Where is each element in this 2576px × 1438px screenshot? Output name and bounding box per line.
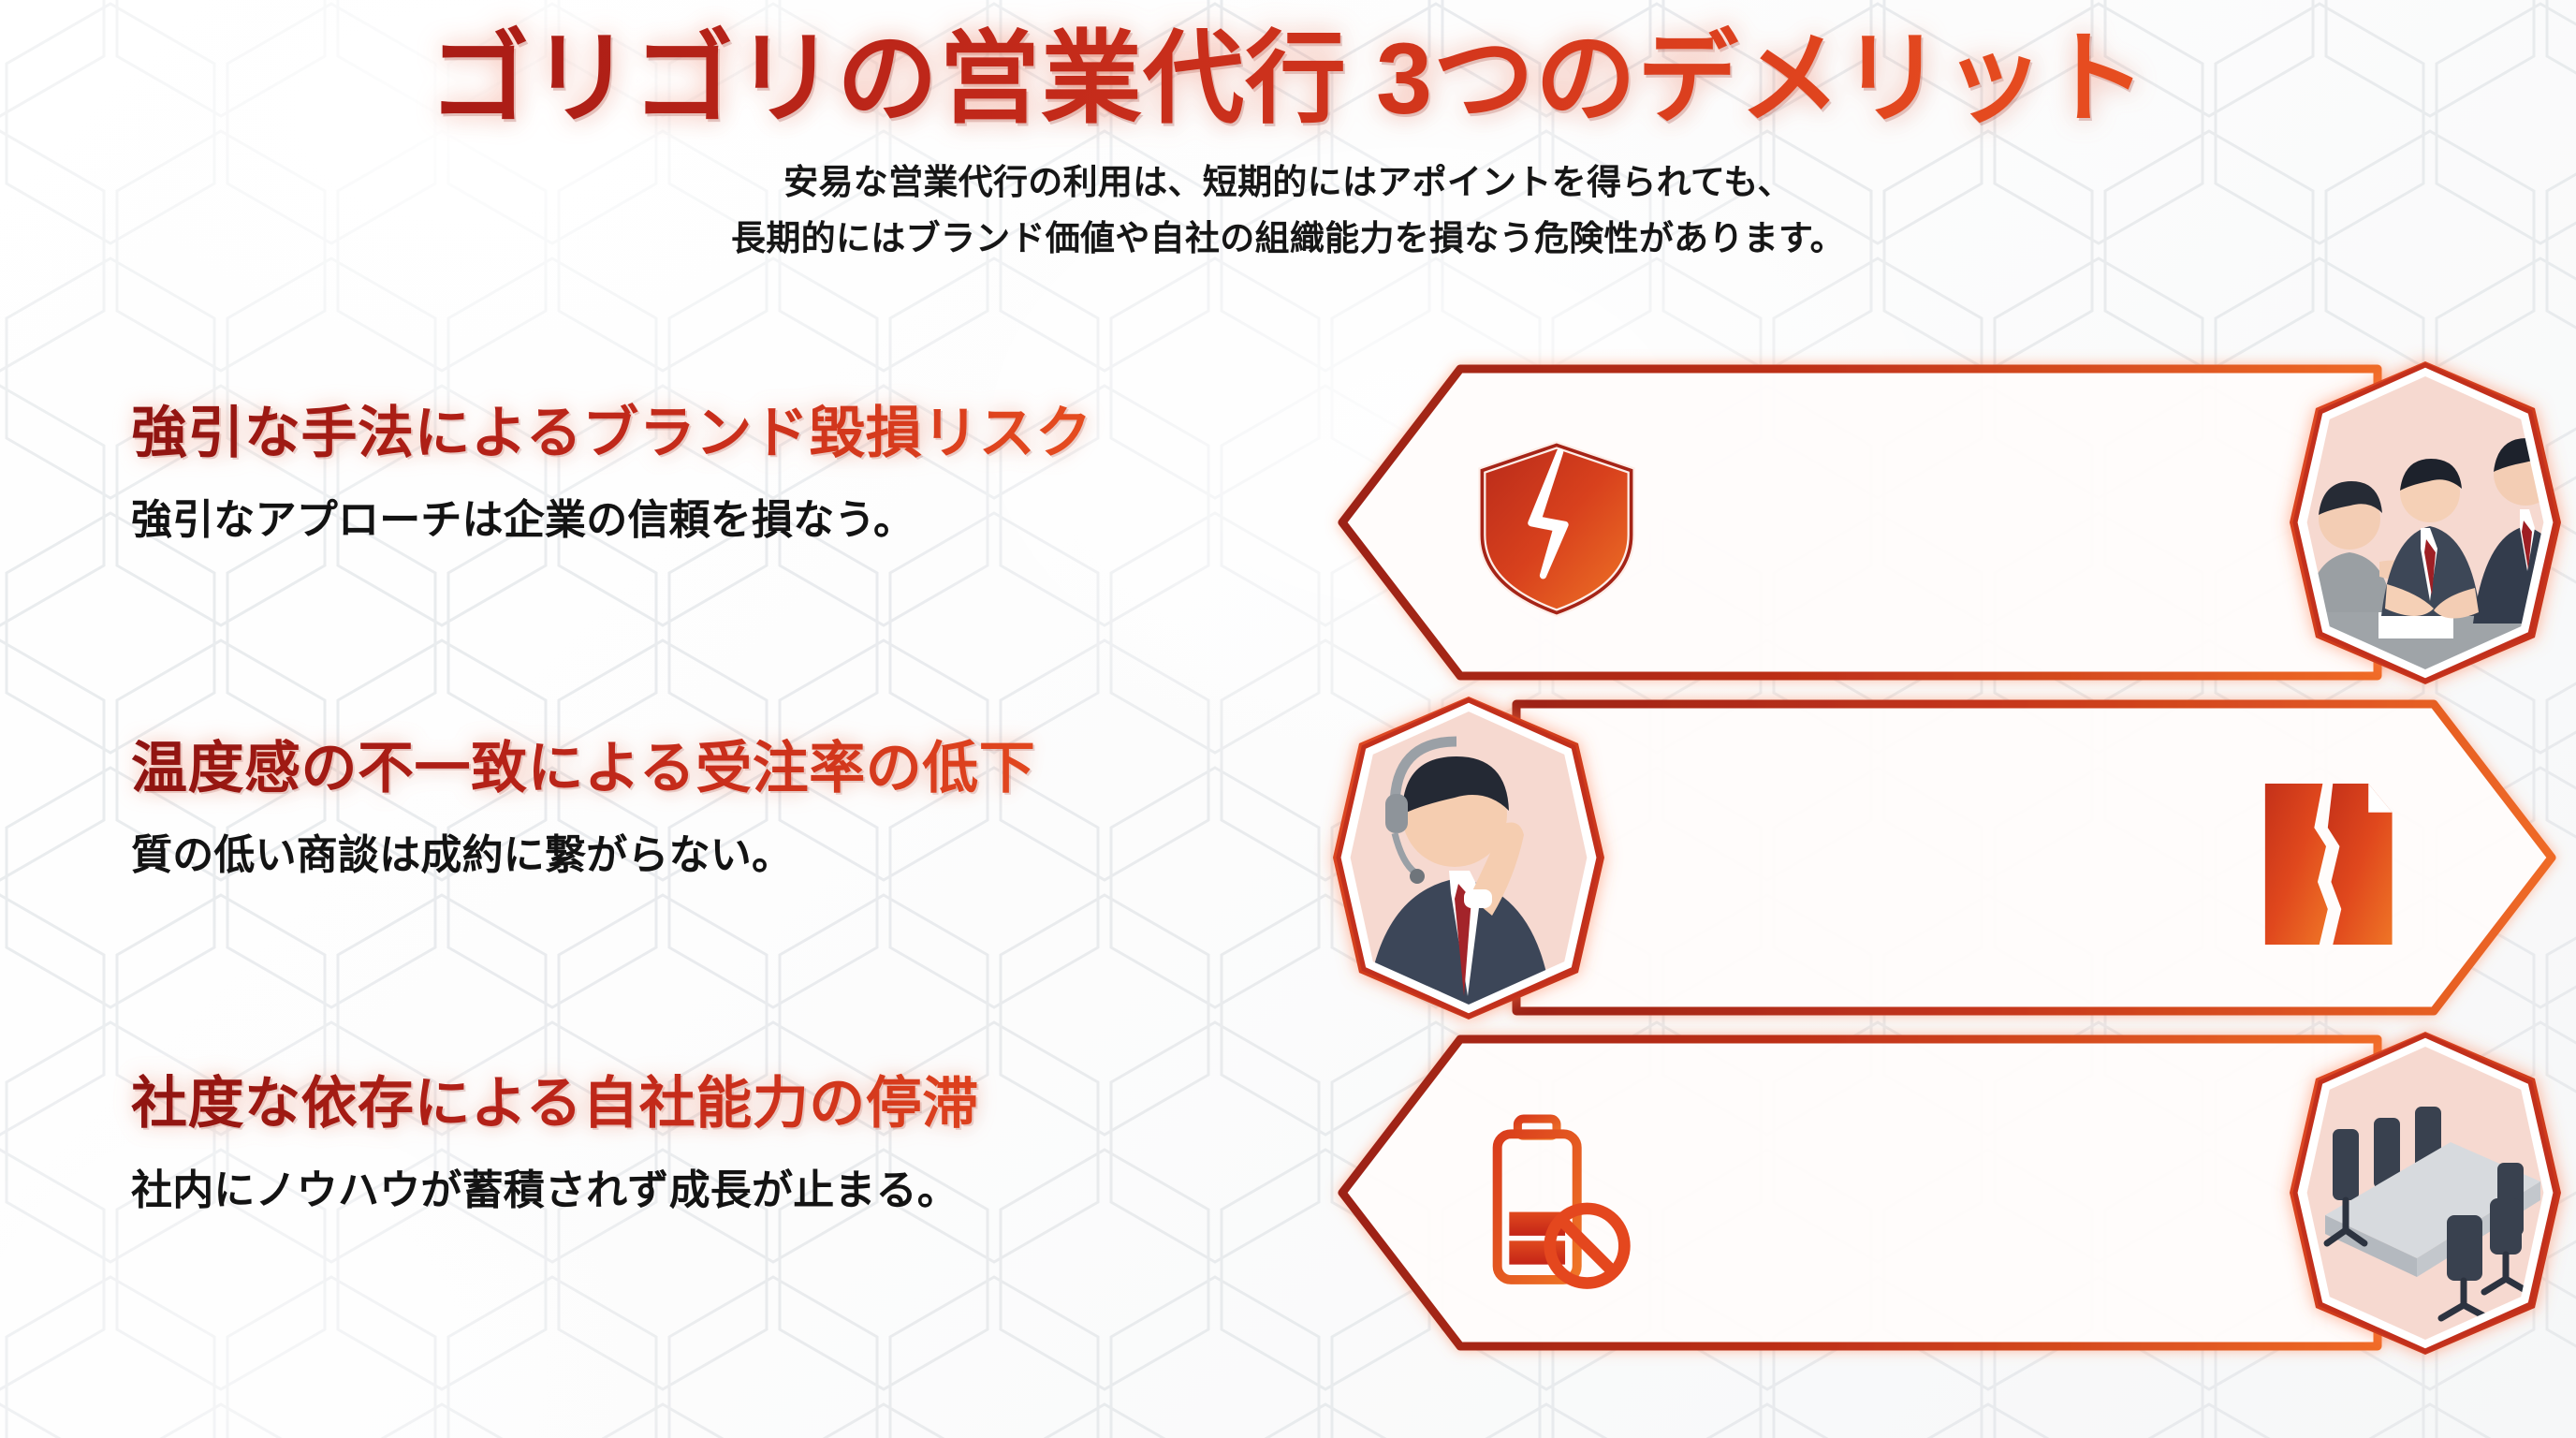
cracked-shield-icon (1468, 440, 1646, 618)
subtitle-line-2: 長期的にはブランド価値や自社の組織能力を損なう危険性があります。 (0, 211, 2576, 267)
demerit-heading-3: 社度な依存による自社能力の停滞 (131, 1071, 1310, 1137)
header: ゴリゴリの営業代行 3つのデメリット 安易な営業代行の利用は、短期的にはアポイン… (0, 24, 2576, 267)
subtitle-line-1: 安易な営業代行の利用は、短期的にはアポイントを得られても、 (0, 154, 2576, 211)
demerit-row-2: 温度感の不一致による受注率の低下 質の低い商談は成約に繋がらない。 (0, 689, 2576, 1026)
demerit-graphic-2 (1329, 689, 2565, 1026)
demerit-description-2: 質の低い商談は成約に繋がらない。 (131, 821, 1310, 881)
demerit-description-1: 強引なアプローチは企業の信頼を損なう。 (131, 486, 1310, 546)
page-title: ゴリゴリの営業代行 3つのデメリット (0, 24, 2576, 134)
demerit-text-3: 社度な依存による自社能力の停滞 社内にノウハウが蓄積されず成長が止まる。 (131, 1071, 1310, 1216)
demerit-row-3: 社度な依存による自社能力の停滞 社内にノウハウが蓄積されず成長が止まる。 (0, 1024, 2576, 1361)
cracked-document-icon (2237, 775, 2415, 953)
call-center-agent-illustration (1333, 697, 1604, 1020)
business-meeting-illustration (2290, 361, 2561, 684)
demerit-graphic-1 (1329, 354, 2565, 691)
demerit-row-1: 強引な手法によるブランド毀損リスク 強引なアプローチは企業の信頼を損なう。 (0, 354, 2576, 691)
demerit-heading-2: 温度感の不一致による受注率の低下 (131, 736, 1310, 802)
demerit-heading-1: 強引な手法によるブランド毀損リスク (131, 401, 1310, 467)
subtitle-block: 安易な営業代行の利用は、短期的にはアポイントを得られても、 長期的にはブランド価… (0, 154, 2576, 267)
infographic-page: ゴリゴリの営業代行 3つのデメリット 安易な営業代行の利用は、短期的にはアポイン… (0, 0, 2576, 1438)
demerit-text-1: 強引な手法によるブランド毀損リスク 強引なアプローチは企業の信頼を損なう。 (131, 401, 1310, 546)
demerit-description-3: 社内にノウハウが蓄積されず成長が止まる。 (131, 1156, 1310, 1216)
empty-meeting-room-illustration (2290, 1032, 2561, 1355)
demerit-graphic-3 (1329, 1024, 2565, 1361)
demerit-text-2: 温度感の不一致による受注率の低下 質の低い商談は成約に繋がらない。 (131, 736, 1310, 881)
low-battery-blocked-icon (1468, 1110, 1646, 1288)
